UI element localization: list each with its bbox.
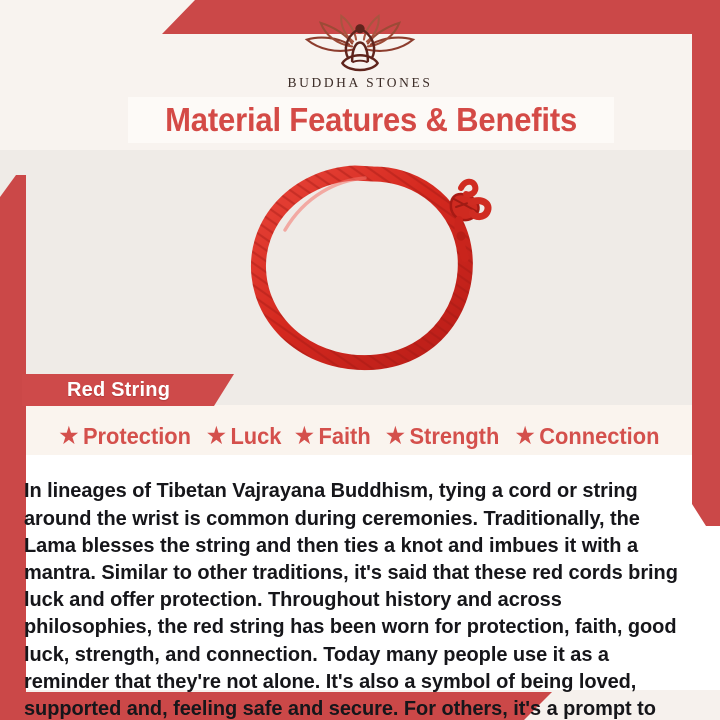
benefit-item-strength: ★ Strength [386,423,499,450]
benefit-item-protection: ★ Protection [60,423,192,450]
benefit-label: Connection [540,423,660,450]
benefits-row: ★ Protection ★ Luck ★ Faith ★ Strength ★… [24,418,696,454]
brand-wordmark: BUDDHA STONES [288,75,433,91]
description-paragraph: In lineages of Tibetan Vajrayana Buddhis… [24,478,686,720]
star-icon: ★ [386,425,405,447]
benefit-label: Faith [319,423,371,450]
benefit-item-luck: ★ Luck [207,423,282,450]
benefit-label: Protection [83,423,191,450]
benefit-label: Luck [230,423,281,450]
decorative-frame-left [0,175,26,700]
benefit-item-faith: ★ Faith [295,423,371,450]
star-icon: ★ [60,425,79,447]
product-label-banner: Red String [22,374,234,406]
product-image-red-string-bracelet [225,150,515,390]
infographic-page: BUDDHA STONES Material Features & Benefi… [0,0,720,720]
star-icon: ★ [207,425,226,447]
bracelet-illustration [225,150,515,390]
page-title-band: Material Features & Benefits [128,97,614,143]
decorative-frame-right [692,34,720,526]
page-title: Material Features & Benefits [165,101,577,139]
star-icon: ★ [295,425,314,447]
product-label-text: Red String [67,379,170,402]
brand-logo: BUDDHA STONES [0,14,720,102]
benefit-label: Strength [409,423,499,450]
lotus-meditation-figure-icon [301,14,419,72]
star-icon: ★ [516,425,535,447]
benefit-item-connection: ★ Connection [516,423,660,450]
